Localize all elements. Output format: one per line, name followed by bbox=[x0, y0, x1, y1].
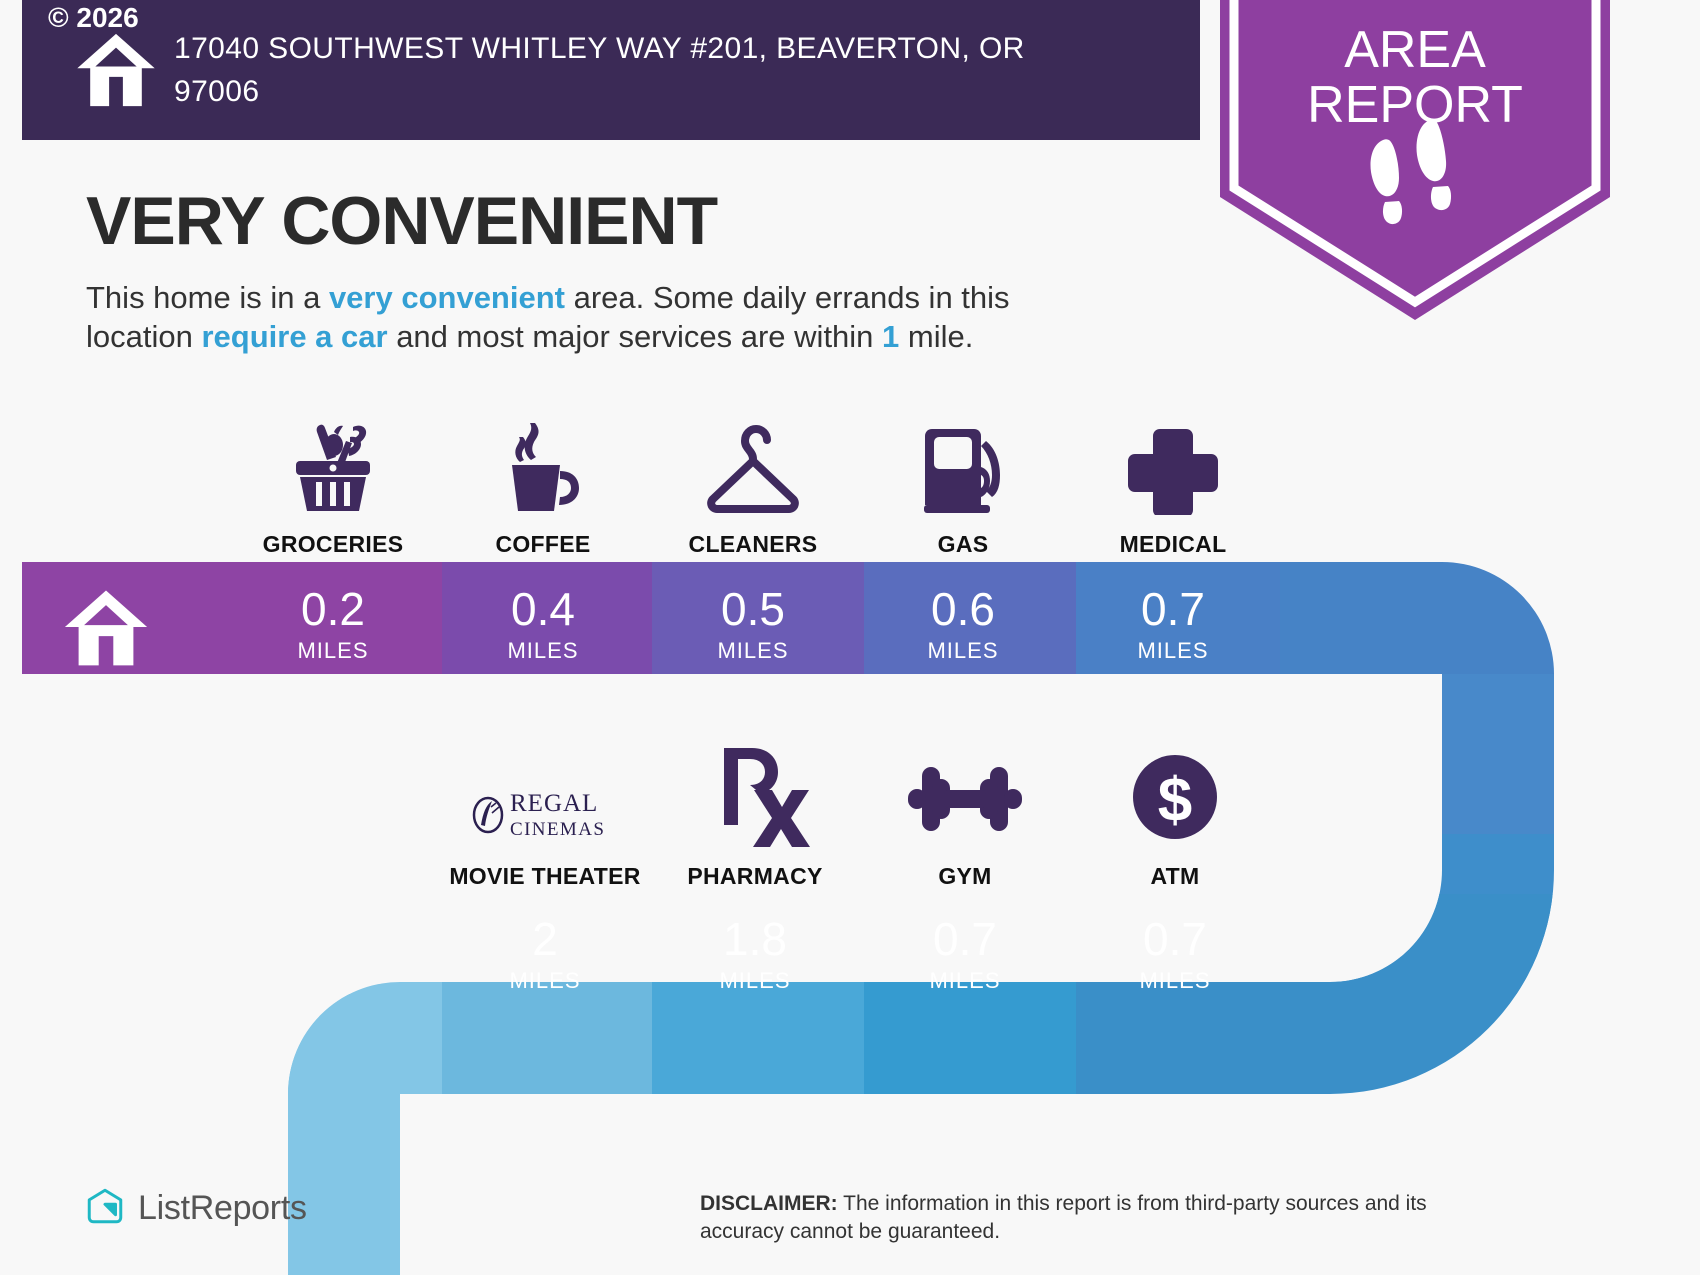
distance-unit: MILES bbox=[1137, 638, 1208, 664]
regal-cinemas-logo: REGAL CINEMAS bbox=[470, 751, 620, 847]
distance-gym: 0.7 MILES bbox=[860, 900, 1070, 1010]
listreports-wordmark: ListReports bbox=[138, 1189, 307, 1228]
distance-unit: MILES bbox=[1139, 968, 1210, 994]
amenity-coffee: COFFEE bbox=[438, 408, 648, 558]
distance-unit: MILES bbox=[719, 968, 790, 994]
header-bar: 17040 SOUTHWEST WHITLEY WAY #201, BEAVER… bbox=[22, 0, 1200, 140]
clothes-hanger-icon bbox=[693, 419, 813, 515]
distance-value: 0.7 bbox=[1143, 916, 1207, 962]
svg-text:CINEMAS: CINEMAS bbox=[510, 819, 605, 840]
amenity-label: MOVIE THEATER bbox=[449, 863, 640, 890]
listreports-house-icon bbox=[84, 1185, 126, 1232]
distance-unit: MILES bbox=[297, 638, 368, 664]
row1-distances: 0.2 MILES 0.4 MILES 0.5 MILES 0.6 MILES … bbox=[228, 570, 1278, 680]
page-title: VERY CONVENIENT bbox=[86, 182, 717, 260]
badge-line2: REPORT bbox=[1307, 76, 1523, 134]
home-icon bbox=[68, 27, 164, 113]
amenity-atm: $ ATM bbox=[1070, 740, 1280, 890]
row2-distances: 2 MILES 1.8 MILES 0.7 MILES 0.7 MILES bbox=[440, 900, 1280, 1010]
amenity-pharmacy: PHARMACY bbox=[650, 740, 860, 890]
bar-segment-tail bbox=[270, 994, 442, 1275]
distance-unit: MILES bbox=[509, 968, 580, 994]
badge-line1: AREA bbox=[1344, 21, 1486, 79]
intro-part3: and most major services are within bbox=[388, 319, 882, 354]
svg-text:REGAL: REGAL bbox=[510, 790, 598, 817]
intro-paragraph: This home is in a very convenient area. … bbox=[86, 278, 1106, 357]
coffee-cup-icon bbox=[488, 419, 598, 515]
amenity-label: ATM bbox=[1150, 863, 1199, 890]
bar-segment-turn-right-upper bbox=[1280, 674, 1700, 834]
intro-highlight-distance: 1 bbox=[882, 319, 899, 354]
distance-unit: MILES bbox=[717, 638, 788, 664]
svg-text:$: $ bbox=[1158, 766, 1192, 835]
amenity-gym: GYM bbox=[860, 740, 1070, 890]
distance-unit: MILES bbox=[929, 968, 1000, 994]
disclaimer-label: DISCLAIMER: bbox=[700, 1192, 838, 1215]
dollar-atm-icon: $ bbox=[1125, 751, 1225, 847]
distance-medical: 0.7 MILES bbox=[1068, 570, 1278, 680]
row1-amenity-icons: GROCERIES COFFEE CLEANERS bbox=[228, 408, 1278, 558]
disclaimer: DISCLAIMER: The information in this repo… bbox=[700, 1190, 1500, 1247]
distance-cleaners: 0.5 MILES bbox=[648, 570, 858, 680]
dumbbell-icon bbox=[900, 751, 1030, 847]
area-report-badge: AREA REPORT bbox=[1220, 0, 1610, 322]
distance-value: 1.8 bbox=[723, 916, 787, 962]
distance-gas: 0.6 MILES bbox=[858, 570, 1068, 680]
distance-value: 0.2 bbox=[301, 586, 365, 632]
distance-unit: MILES bbox=[507, 638, 578, 664]
amenity-medical: MEDICAL bbox=[1068, 408, 1278, 558]
distance-unit: MILES bbox=[927, 638, 998, 664]
gas-pump-icon bbox=[908, 419, 1018, 515]
row2-amenity-icons: REGAL CINEMAS MOVIE THEATER PHARMACY bbox=[440, 740, 1280, 890]
bar-segment-turn-bottom bbox=[1280, 894, 1700, 1094]
copyright-notice: © 2026 bbox=[48, 2, 139, 34]
intro-part4: mile. bbox=[899, 319, 973, 354]
distance-atm: 0.7 MILES bbox=[1070, 900, 1280, 1010]
property-address: 17040 SOUTHWEST WHITLEY WAY #201, BEAVER… bbox=[174, 27, 1114, 114]
distance-value: 0.5 bbox=[721, 586, 785, 632]
amenity-movie-theater: REGAL CINEMAS MOVIE THEATER bbox=[440, 740, 650, 890]
intro-part1: This home is in a bbox=[86, 280, 329, 315]
rx-pharmacy-icon bbox=[700, 751, 810, 847]
grocery-basket-icon bbox=[278, 419, 388, 515]
distance-value: 0.6 bbox=[931, 586, 995, 632]
distance-value: 2 bbox=[532, 916, 558, 962]
distance-value: 0.7 bbox=[933, 916, 997, 962]
distance-value: 0.4 bbox=[511, 586, 575, 632]
medical-cross-icon bbox=[1118, 419, 1228, 515]
amenity-label: GYM bbox=[938, 863, 991, 890]
amenity-label: PHARMACY bbox=[687, 863, 822, 890]
amenity-groceries: GROCERIES bbox=[228, 408, 438, 558]
amenity-gas: GAS bbox=[858, 408, 1068, 558]
bar-segment-turn-top bbox=[1280, 540, 1700, 674]
intro-highlight-convenient: very convenient bbox=[329, 280, 565, 315]
intro-highlight-car: require a car bbox=[201, 319, 387, 354]
distance-pharmacy: 1.8 MILES bbox=[650, 900, 860, 1010]
distance-value: 0.7 bbox=[1141, 586, 1205, 632]
distance-coffee: 0.4 MILES bbox=[438, 570, 648, 680]
distance-movie-theater: 2 MILES bbox=[440, 900, 650, 1010]
listreports-logo[interactable]: ListReports bbox=[84, 1185, 307, 1232]
amenity-cleaners: CLEANERS bbox=[648, 408, 858, 558]
distance-groceries: 0.2 MILES bbox=[228, 570, 438, 680]
home-marker-icon bbox=[60, 585, 152, 674]
area-report-page: 17040 SOUTHWEST WHITLEY WAY #201, BEAVER… bbox=[0, 0, 1700, 1275]
